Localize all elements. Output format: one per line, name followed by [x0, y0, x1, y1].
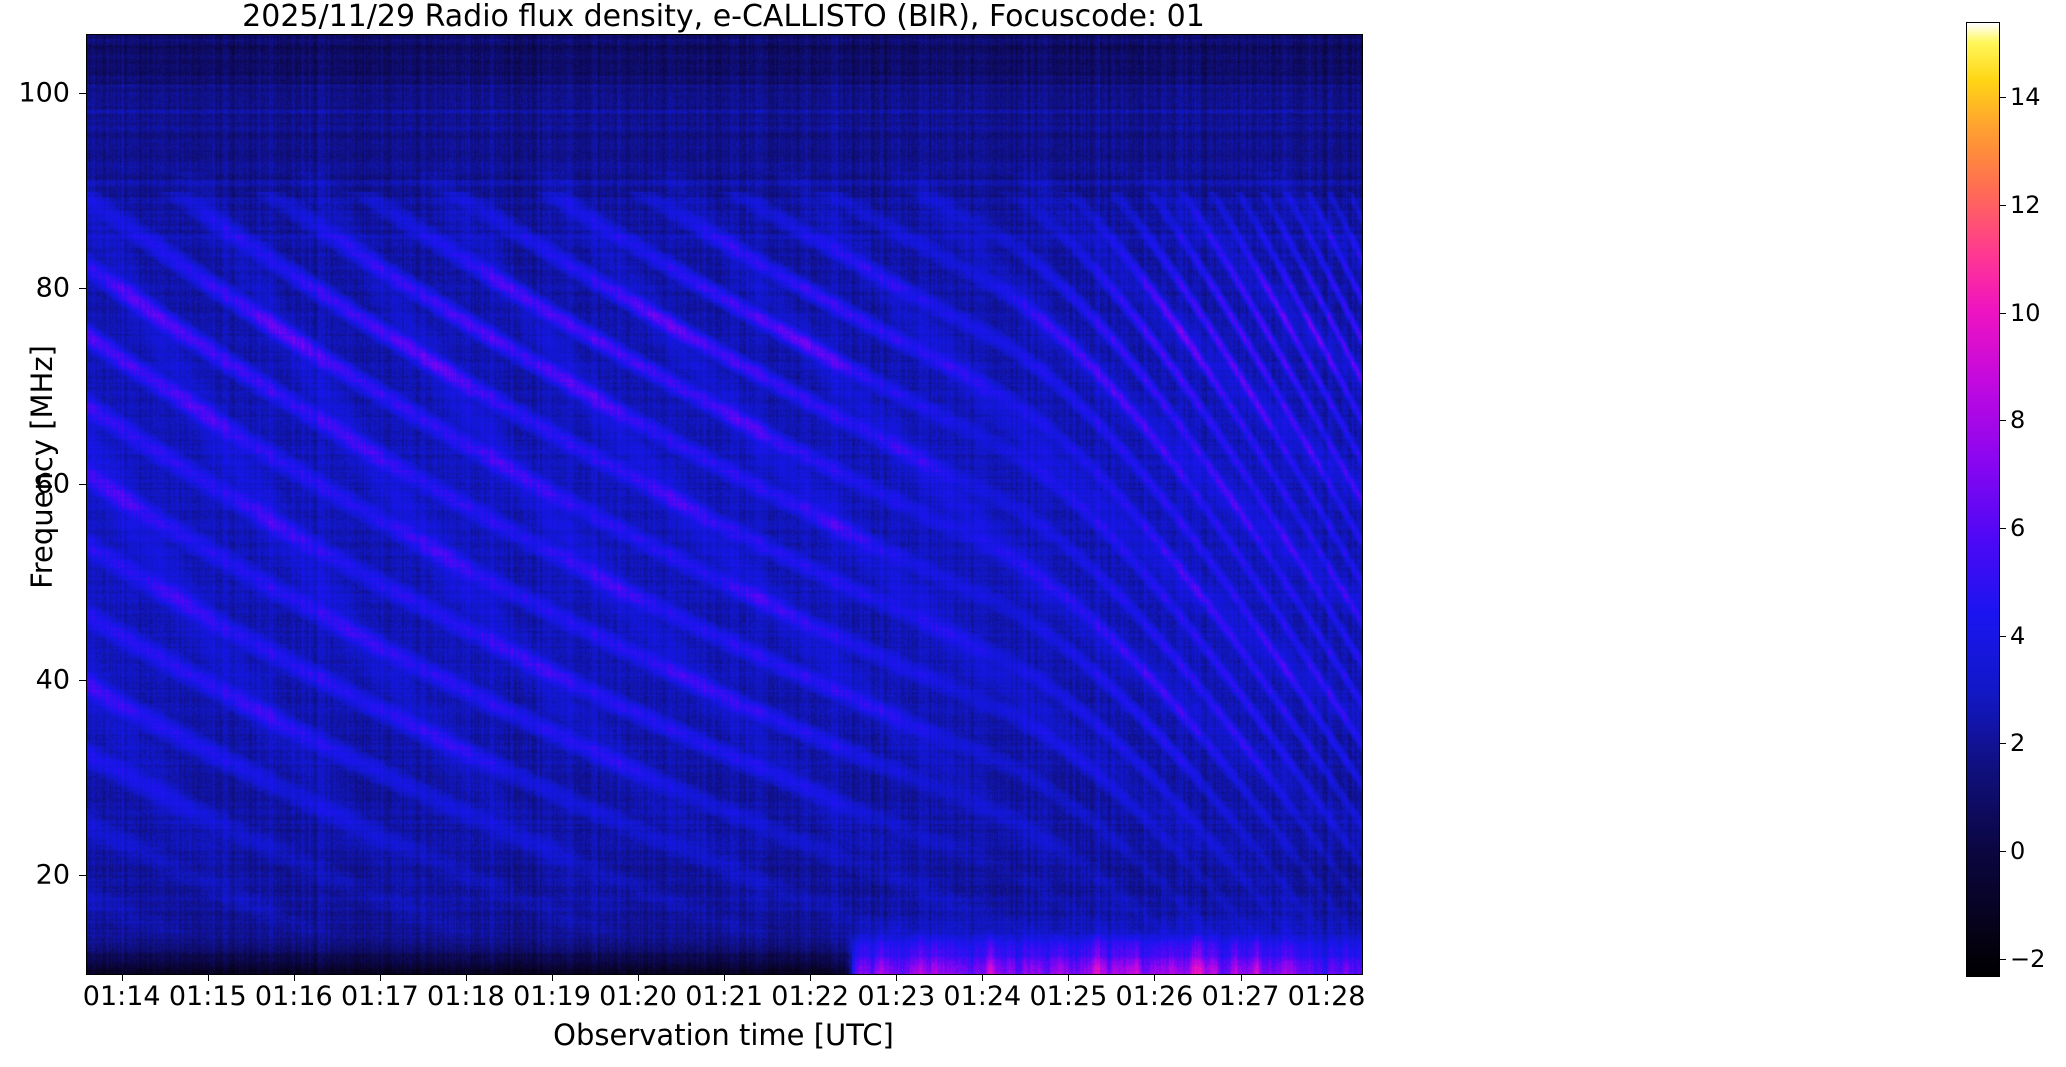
colorbar-tick-label: 0 — [2010, 837, 2025, 865]
x-axis-tick-mark — [810, 974, 811, 981]
colorbar-tick-label: 14 — [2010, 83, 2041, 111]
x-axis-tick-mark — [380, 974, 381, 981]
x-axis-tick-mark — [1068, 974, 1069, 981]
colorbar-tick-mark — [1999, 313, 2006, 314]
colorbar-tick-mark — [1999, 636, 2006, 637]
x-axis-tick-mark — [466, 974, 467, 981]
page-title: 2025/11/29 Radio flux density, e-CALLIST… — [86, 2, 1361, 32]
spectrogram-image — [87, 35, 1362, 974]
colorbar-tick-label: 2 — [2010, 729, 2025, 757]
colorbar-tick-label: 8 — [2010, 406, 2025, 434]
x-axis-label: Observation time [UTC] — [86, 1018, 1361, 1052]
x-axis-tick-mark — [724, 974, 725, 981]
colorbar-tick-label: 4 — [2010, 622, 2025, 650]
x-axis-tick-mark — [208, 974, 209, 981]
y-axis-tick-label: 60 — [0, 468, 70, 499]
colorbar-tick-label: −2 — [2010, 945, 2045, 973]
x-axis-tick-mark — [638, 974, 639, 981]
spectrogram-axes — [86, 34, 1363, 975]
colorbar-tick-mark — [1999, 528, 2006, 529]
x-axis-tick-mark — [1154, 974, 1155, 981]
x-axis-tick-mark — [552, 974, 553, 981]
x-axis-tick-mark — [982, 974, 983, 981]
colorbar-tick-mark — [1999, 851, 2006, 852]
colorbar — [1966, 22, 2000, 977]
colorbar-tick-label: 12 — [2010, 191, 2041, 219]
x-axis-tick-mark — [294, 974, 295, 981]
y-axis-tick-mark — [79, 288, 86, 289]
y-axis-tick-mark — [79, 875, 86, 876]
colorbar-tick-mark — [1999, 97, 2006, 98]
x-axis-tick-mark — [1327, 974, 1328, 981]
spectrogram-figure: 2025/11/29 Radio flux density, e-CALLIST… — [0, 0, 2066, 1067]
y-axis-tick-label: 20 — [0, 860, 70, 891]
x-axis-tick-mark — [122, 974, 123, 981]
y-axis-tick-label: 100 — [0, 77, 70, 108]
x-axis-tick-mark — [896, 974, 897, 981]
colorbar-tick-label: 6 — [2010, 514, 2025, 542]
colorbar-tick-mark — [1999, 743, 2006, 744]
y-axis-tick-label: 80 — [0, 273, 70, 304]
colorbar-tick-mark — [1999, 959, 2006, 960]
colorbar-tick-mark — [1999, 205, 2006, 206]
colorbar-gradient — [1967, 23, 1999, 976]
colorbar-tick-mark — [1999, 420, 2006, 421]
x-axis-tick-mark — [1241, 974, 1242, 981]
y-axis-tick-label: 40 — [0, 664, 70, 695]
y-axis-tick-mark — [79, 484, 86, 485]
x-axis-tick-label: 01:28 — [1257, 981, 1397, 1012]
y-axis-tick-mark — [79, 93, 86, 94]
colorbar-tick-label: 10 — [2010, 299, 2041, 327]
y-axis-tick-mark — [79, 680, 86, 681]
